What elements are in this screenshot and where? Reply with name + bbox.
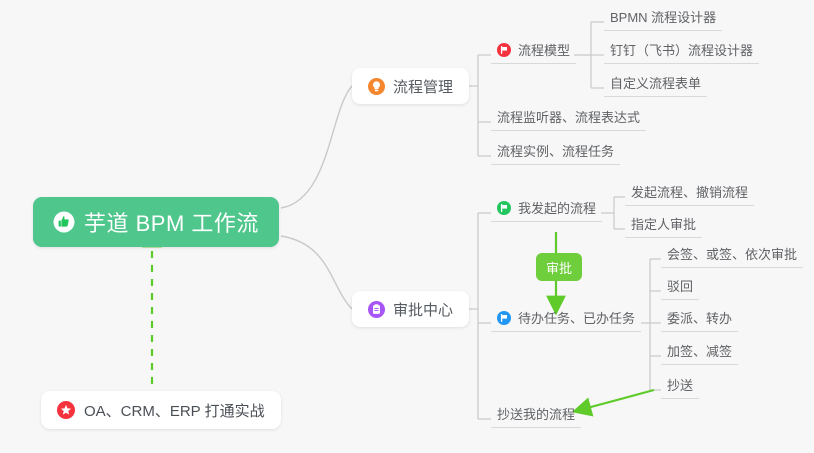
leaf-label-delegate-transfer: 委派、转办 <box>667 308 732 327</box>
leaf-label-reject: 驳回 <box>667 276 693 295</box>
leaf-node-countersign[interactable]: 会签、或签、依次审批 <box>661 244 803 268</box>
leaf-label-custom-form: 自定义流程表单 <box>610 73 701 92</box>
flag-icon <box>497 201 511 215</box>
leaf-node-bpmn-designer[interactable]: BPMN 流程设计器 <box>604 7 722 31</box>
branch-label-process-management: 流程管理 <box>393 76 453 97</box>
leaf-node-delegate-transfer[interactable]: 委派、转办 <box>661 308 738 332</box>
leaf-label-process-instance: 流程实例、流程任务 <box>497 141 614 160</box>
leaf-label-bpmn-designer: BPMN 流程设计器 <box>610 7 716 26</box>
leaf-label-start-cancel-process: 发起流程、撤销流程 <box>631 182 748 201</box>
root-node[interactable]: 芋道 BPM 工作流 <box>33 197 279 247</box>
leaf-node-reject[interactable]: 驳回 <box>661 276 699 300</box>
leaf-node-my-started-processes[interactable]: 我发起的流程 <box>491 198 602 222</box>
root-label: 芋道 BPM 工作流 <box>84 206 259 238</box>
clipboard-icon <box>368 301 385 318</box>
flag-icon <box>497 311 511 325</box>
leaf-node-add-remove-sign[interactable]: 加签、减签 <box>661 341 738 365</box>
leaf-label-todo-done-tasks: 待办任务、已办任务 <box>518 308 635 327</box>
leaf-label-dingtalk-designer: 钉钉（飞书）流程设计器 <box>610 40 753 59</box>
branch-node-approval-center[interactable]: 审批中心 <box>352 291 469 327</box>
leaf-node-assigned-approval[interactable]: 指定人审批 <box>625 214 702 238</box>
leaf-node-process-listener[interactable]: 流程监听器、流程表达式 <box>491 107 646 131</box>
mindmap-canvas: 芋道 BPM 工作流 流程管理 审批中心 <box>0 0 814 453</box>
lightbulb-icon <box>368 78 385 95</box>
leaf-label-my-started-processes: 我发起的流程 <box>518 198 596 217</box>
leaf-node-custom-form[interactable]: 自定义流程表单 <box>604 73 707 97</box>
flag-icon <box>497 43 511 57</box>
leaf-label-cc: 抄送 <box>667 375 693 394</box>
leaf-label-cc-to-me: 抄送我的流程 <box>497 404 575 423</box>
leaf-node-start-cancel-process[interactable]: 发起流程、撤销流程 <box>625 182 754 206</box>
leaf-node-dingtalk-designer[interactable]: 钉钉（飞书）流程设计器 <box>604 40 759 64</box>
badge-approval[interactable]: 审批 <box>536 253 582 281</box>
badge-approval-label: 审批 <box>546 258 572 277</box>
leaf-label-assigned-approval: 指定人审批 <box>631 214 696 233</box>
leaf-label-add-remove-sign: 加签、减签 <box>667 341 732 360</box>
star-icon <box>57 401 75 419</box>
leaf-node-cc-to-me[interactable]: 抄送我的流程 <box>491 404 581 428</box>
leaf-node-process-model[interactable]: 流程模型 <box>491 40 576 64</box>
callout-label-integration: OA、CRM、ERP 打通实战 <box>84 400 265 421</box>
leaf-label-countersign: 会签、或签、依次审批 <box>667 244 797 263</box>
leaf-node-todo-done-tasks[interactable]: 待办任务、已办任务 <box>491 308 641 332</box>
leaf-label-process-model: 流程模型 <box>518 40 570 59</box>
leaf-node-cc[interactable]: 抄送 <box>661 375 699 399</box>
branch-node-process-management[interactable]: 流程管理 <box>352 68 469 104</box>
leaf-label-process-listener: 流程监听器、流程表达式 <box>497 107 640 126</box>
callout-node-integration[interactable]: OA、CRM、ERP 打通实战 <box>41 391 281 429</box>
leaf-node-process-instance[interactable]: 流程实例、流程任务 <box>491 141 620 165</box>
branch-label-approval-center: 审批中心 <box>393 299 453 320</box>
thumbs-up-icon <box>53 211 75 233</box>
